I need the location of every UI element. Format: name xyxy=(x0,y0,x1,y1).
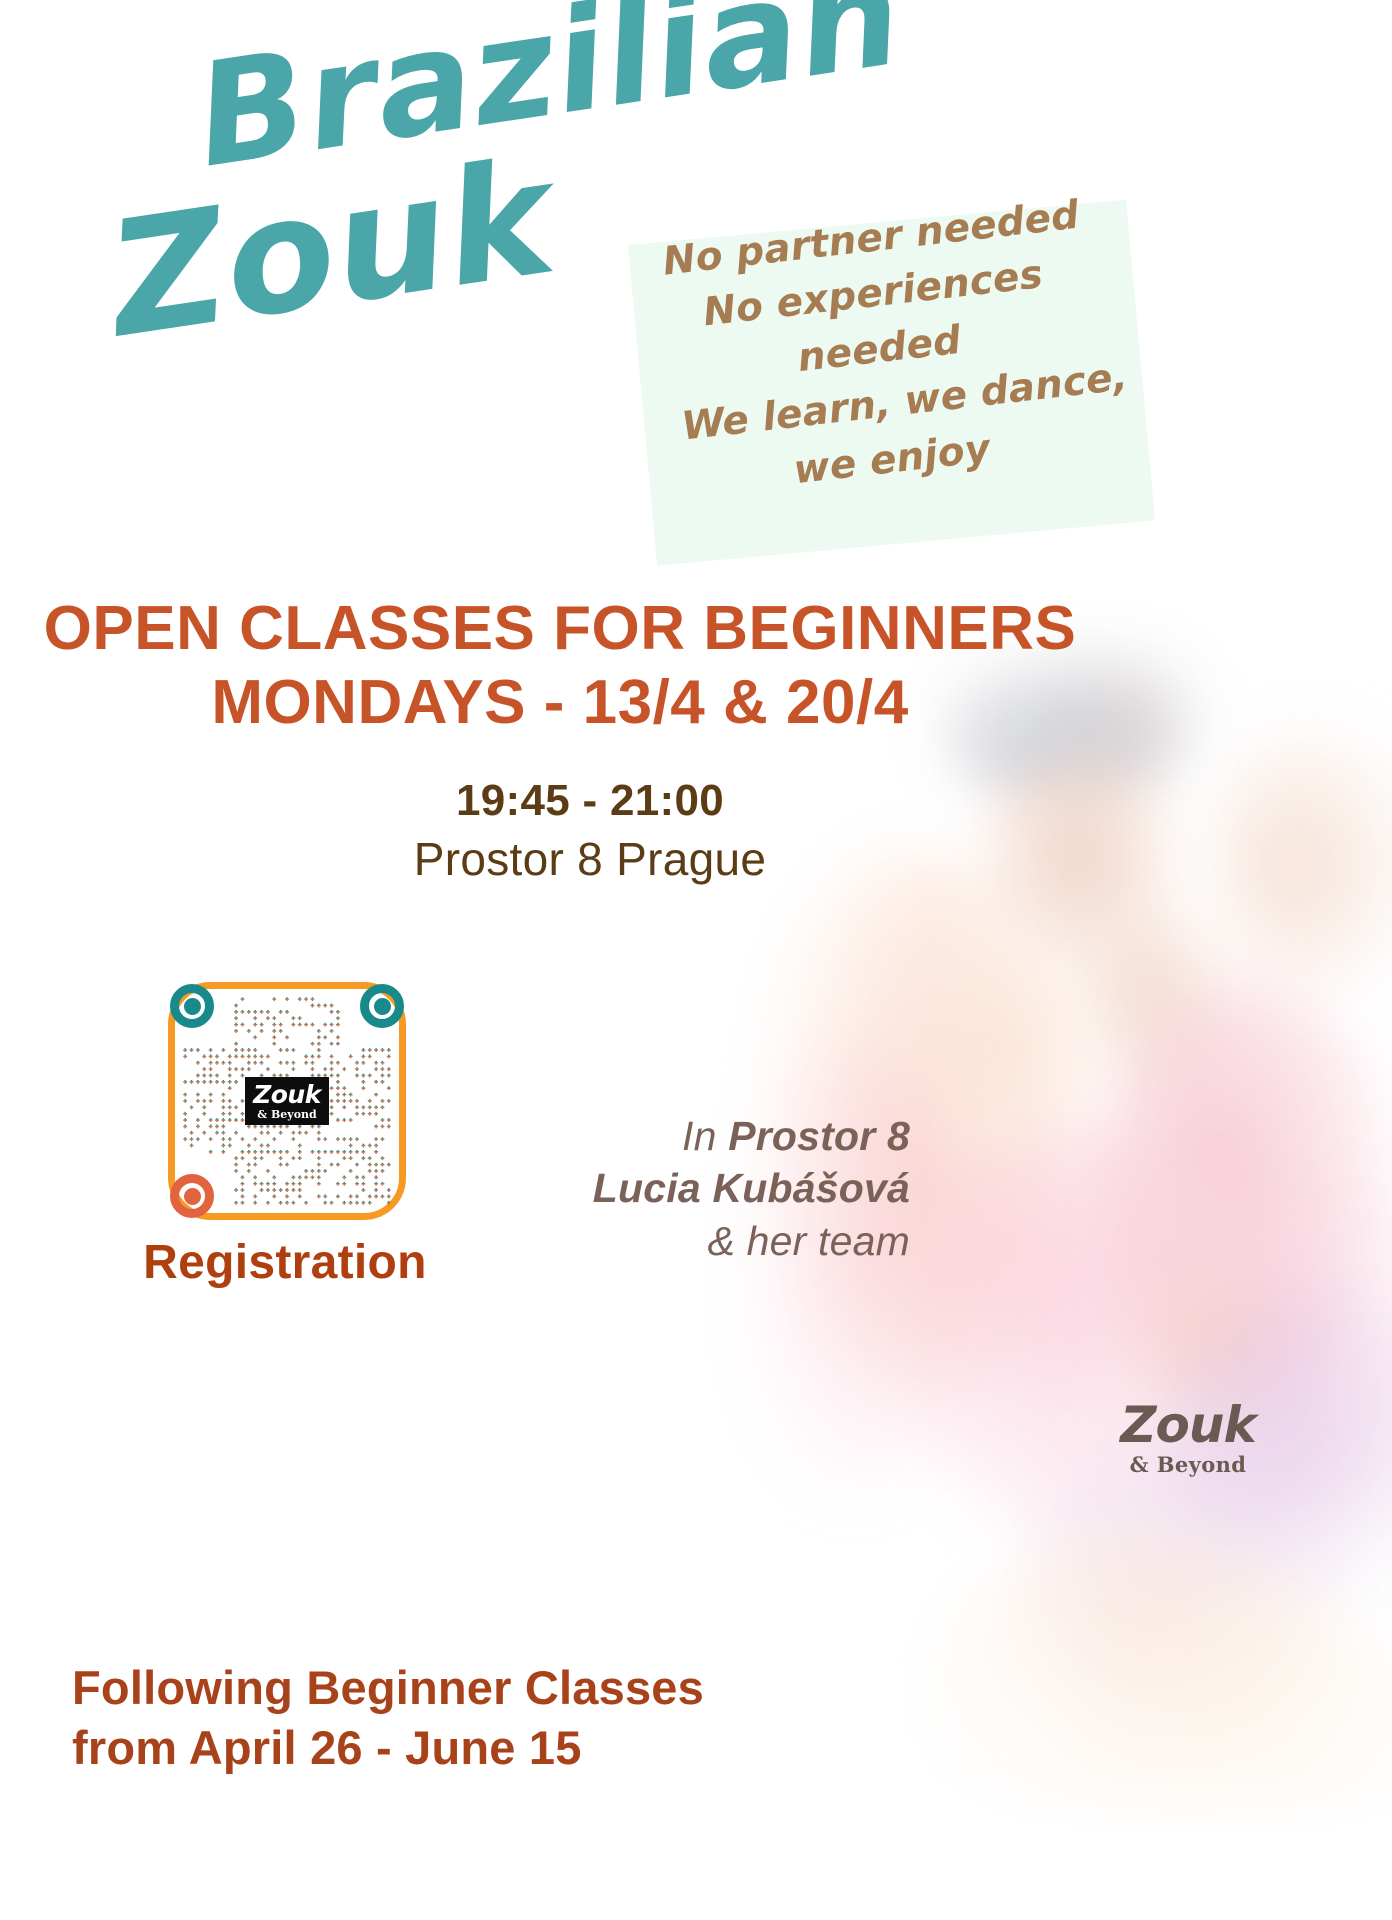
following-classes-note: Following Beginner Classes from April 26… xyxy=(72,1658,892,1778)
headline-line-classes: OPEN CLASSES FOR BEGINNERS xyxy=(0,595,1120,663)
qr-finder-top-right xyxy=(360,984,404,1028)
photo-blob-man-arm xyxy=(1210,710,1392,990)
headline: OPEN CLASSES FOR BEGINNERS MONDAYS - 13/… xyxy=(0,595,1120,737)
credit-venue-name: Prostor 8 xyxy=(728,1113,910,1159)
photo-blob-skirt xyxy=(940,1530,1370,1840)
photo-blob-man-neck xyxy=(1060,900,1235,1100)
qr-logo-word: Zouk xyxy=(253,1082,321,1107)
headline-line-dates: MONDAYS - 13/4 & 20/4 xyxy=(0,669,1120,737)
brand-logo: Zouk & Beyond xyxy=(1118,1400,1258,1475)
footer-line-1: Following Beginner Classes xyxy=(72,1658,892,1718)
tagline-text: No partner needed No experiences needed … xyxy=(660,189,1099,511)
qr-finder-top-left xyxy=(170,984,214,1028)
photo-blob-skirt-hem xyxy=(1070,1600,1392,1840)
qr-finder-bottom-left xyxy=(170,1174,214,1218)
photo-blob-woman-face xyxy=(880,930,1095,1165)
photo-blob-man-shoulder xyxy=(1095,980,1392,1410)
instructor-credits: In Prostor 8 Lucia Kubášová & her team xyxy=(520,1110,910,1267)
qr-center-logo: Zouk & Beyond xyxy=(245,1077,329,1125)
event-details: 19:45 - 21:00 Prostor 8 Prague xyxy=(240,775,940,888)
footer-line-2: from April 26 - June 15 xyxy=(72,1718,892,1778)
credit-instructor-name: Lucia Kubášová xyxy=(520,1162,910,1214)
photo-blob-woman-hair-lower xyxy=(705,1040,1005,1500)
registration-caption: Registration xyxy=(0,1235,570,1290)
brand-logo-word: Zouk xyxy=(1118,1400,1258,1450)
photo-blob-man-face xyxy=(980,740,1175,970)
photo-blob-pink-wash xyxy=(1120,1160,1392,1540)
credit-team: & her team xyxy=(520,1215,910,1267)
credit-line-venue: In Prostor 8 xyxy=(520,1110,910,1162)
poster-canvas: Brazilian Zouk No partner needed No expe… xyxy=(0,0,1392,1920)
qr-logo-subtitle: & Beyond xyxy=(257,1109,316,1120)
event-venue: Prostor 8 Prague xyxy=(240,831,940,889)
registration-qr-code[interactable]: Zouk & Beyond xyxy=(168,982,406,1220)
photo-blob-woman-body xyxy=(905,1120,1245,1550)
brand-logo-subtitle: & Beyond xyxy=(1118,1454,1258,1475)
event-time: 19:45 - 21:00 xyxy=(240,775,940,827)
credit-in-word: In xyxy=(682,1113,728,1159)
